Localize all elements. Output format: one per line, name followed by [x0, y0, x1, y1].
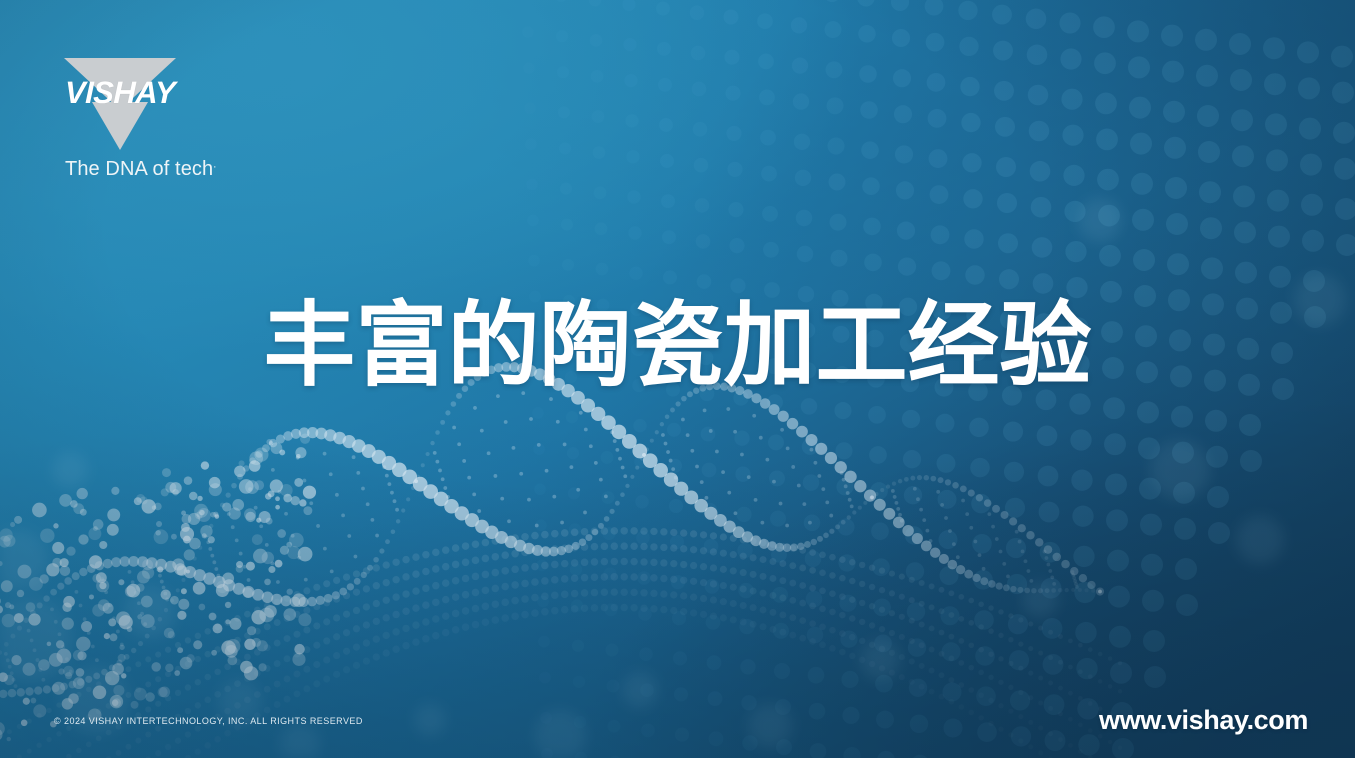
tagline-text: The DNA of tech — [65, 158, 213, 180]
vishay-logo[interactable]: VISHAY The DNA of tech. — [64, 36, 216, 181]
logo-wordmark: VISHAY — [63, 75, 178, 111]
copyright-notice: © 2024 VISHAY INTERTECHNOLOGY, INC. ALL … — [54, 716, 363, 726]
slide-canvas: VISHAY The DNA of tech. 丰富的陶瓷加工经验 © 2024… — [0, 0, 1355, 758]
vishay-triangle-icon: VISHAY — [64, 36, 176, 150]
slide-title: 丰富的陶瓷加工经验 — [0, 292, 1355, 400]
tagline-trademark-mark: . — [213, 158, 216, 170]
website-url[interactable]: www.vishay.com — [1099, 705, 1308, 736]
logo-tagline: The DNA of tech. — [65, 158, 216, 181]
